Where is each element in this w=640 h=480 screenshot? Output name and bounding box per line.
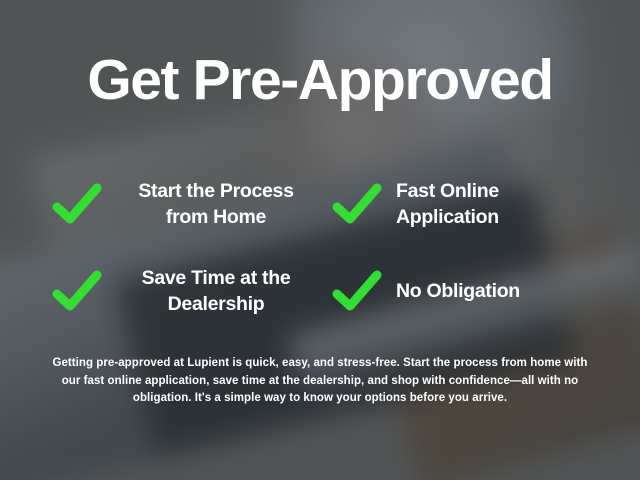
feature-label: Save Time at the Dealership [116,265,316,317]
feature-label: No Obligation [396,278,520,304]
feature-row: Save Time at the Dealership No Obligatio… [0,248,640,334]
check-icon [332,268,382,314]
promo-banner: Get Pre-Approved Start the Process from … [0,0,640,480]
feature-line: Fast Online [396,180,499,202]
check-icon [332,181,382,227]
feature-item-save-time-at-the-dealership: Save Time at the Dealership [0,248,320,334]
feature-line: Application [396,206,499,228]
feature-line: No Obligation [396,280,520,302]
feature-line: Start the Process [138,180,293,202]
feature-item-no-obligation: No Obligation [320,248,640,334]
feature-row: Start the Process from Home Fast Online … [0,160,640,248]
check-icon [52,268,102,314]
feature-line: Dealership [168,293,265,315]
feature-label: Start the Process from Home [116,178,316,230]
check-icon [52,181,102,227]
description-paragraph: Getting pre-approved at Lupient is quick… [50,355,590,408]
feature-item-fast-online-application: Fast Online Application [320,160,640,248]
content-layer: Get Pre-Approved Start the Process from … [0,0,640,480]
feature-line: Save Time at the [142,267,291,289]
feature-item-start-the-process: Start the Process from Home [0,160,320,248]
feature-grid: Start the Process from Home Fast Online … [0,160,640,334]
page-title: Get Pre-Approved [0,52,640,109]
feature-line: from Home [166,206,266,228]
feature-label: Fast Online Application [396,178,499,230]
